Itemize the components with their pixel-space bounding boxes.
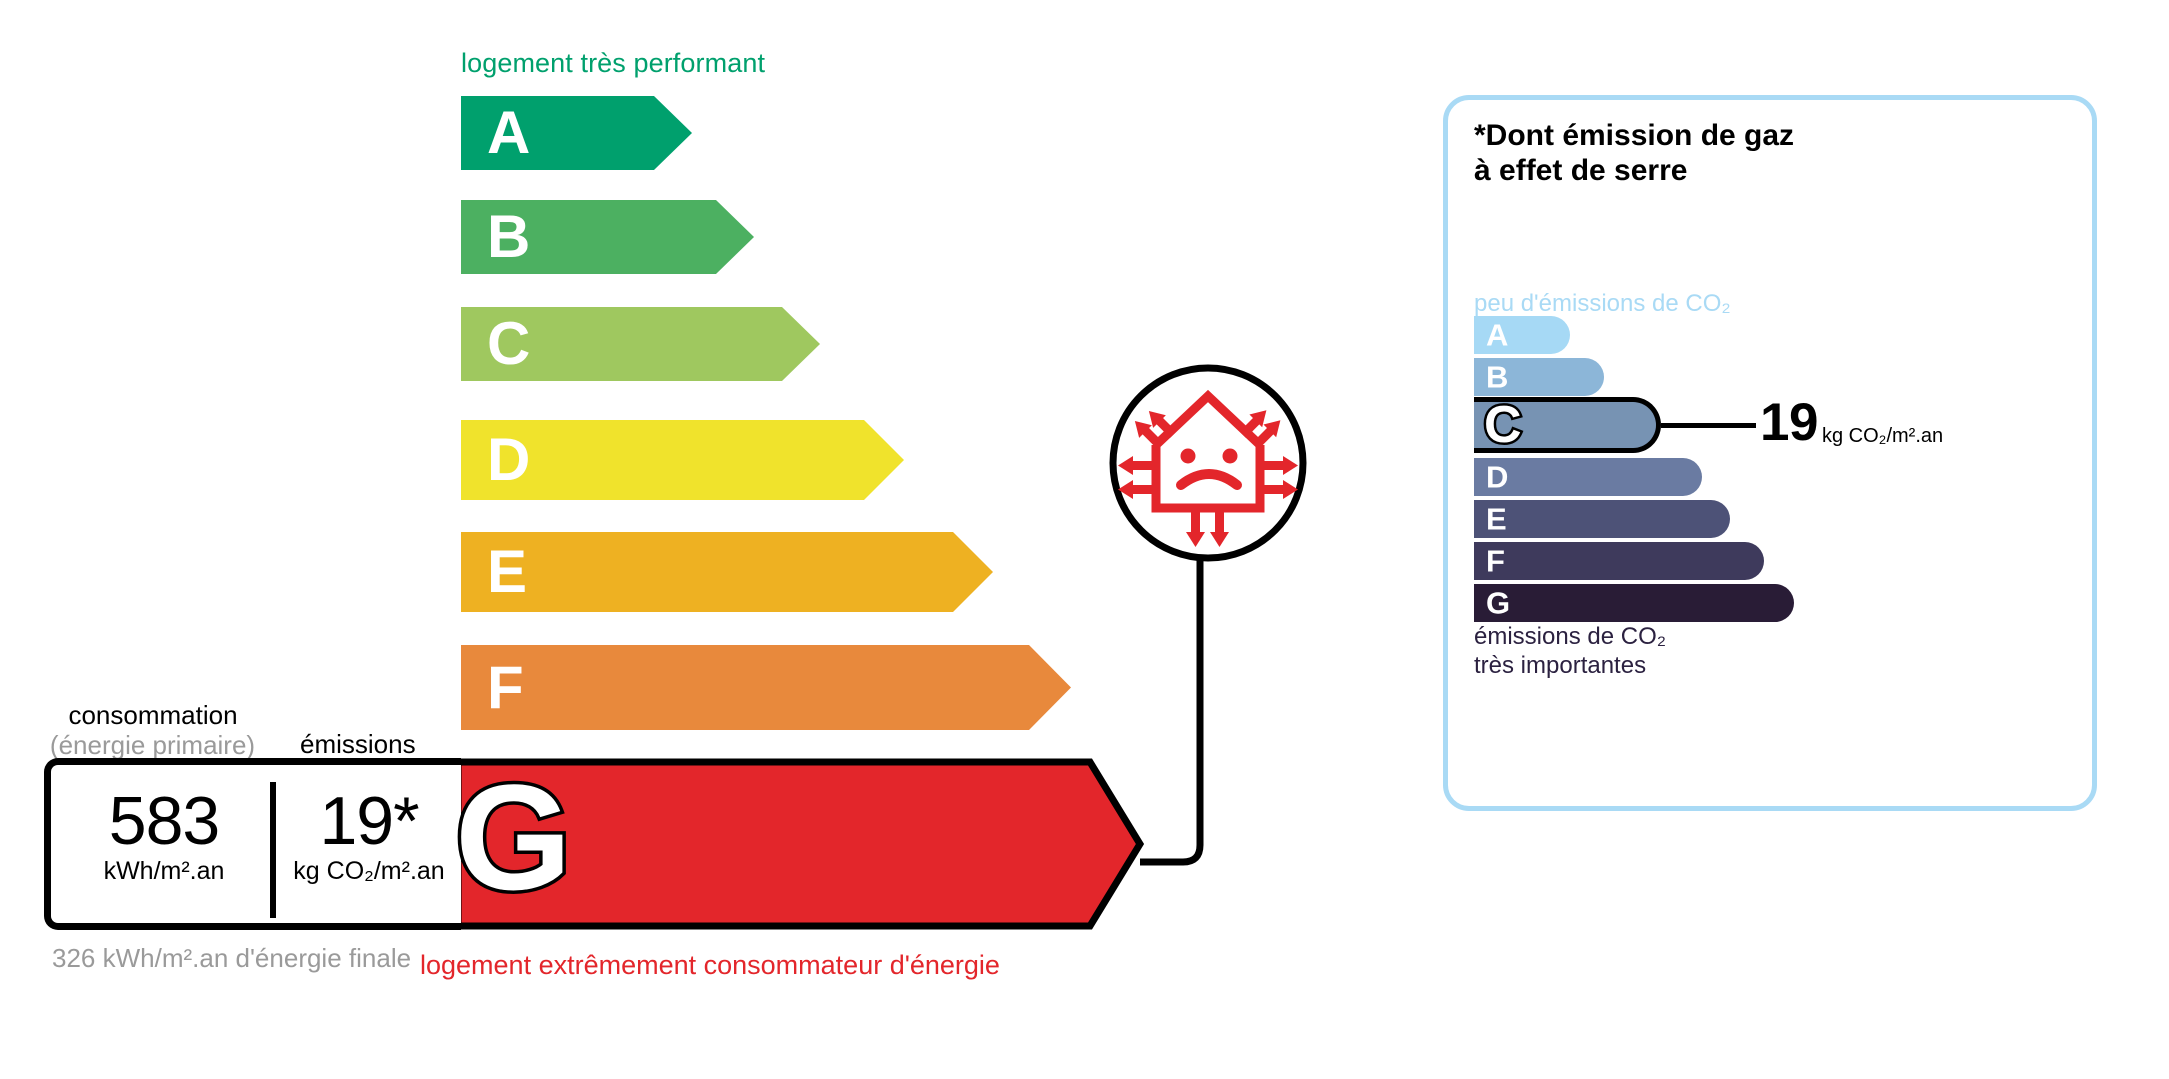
energy-class-row-e: E [461, 532, 993, 612]
ges-class-row-f: F [1474, 542, 1764, 580]
energy-class-letter-b: B [487, 207, 530, 267]
energy-performance-diagram: logement très performant A B C D E [0, 0, 1330, 1079]
ges-class-row-b: B [1474, 358, 1604, 396]
ges-bottom-caption: émissions de CO₂ très importantes [1474, 622, 1666, 681]
emissions-value: 19* [279, 787, 459, 856]
ges-callout-value: 19 [1760, 396, 1818, 449]
ges-class-row-a: A [1474, 316, 1570, 354]
energy-bottom-caption: logement extrêmement consommateur d'éner… [420, 950, 1000, 981]
ges-class-letter-a: A [1486, 320, 1508, 351]
emissions-unit: kg CO₂/m².an [279, 858, 459, 886]
ges-callout-leader-line [1661, 423, 1756, 428]
greenhouse-gas-panel: *Dont émission de gaz à effet de serre p… [1443, 95, 2097, 811]
value-divider [270, 782, 276, 918]
ges-class-letter-e: E [1486, 504, 1507, 535]
consumption-value: 583 [59, 787, 269, 856]
energy-class-row-f: F [461, 645, 1071, 730]
ges-class-letter-b: B [1486, 362, 1508, 393]
measurement-box: 583 kWh/m².an 19* kg CO₂/m².an [44, 758, 461, 930]
ges-callout-unit: kg CO₂/m².an [1822, 425, 1943, 448]
final-energy-footnote: 326 kWh/m².an d'énergie finale [52, 942, 411, 975]
energy-class-letter-a: A [487, 103, 530, 163]
ges-class-row-c: C [1474, 397, 1661, 453]
energy-class-row-g: 583 kWh/m².an 19* kg CO₂/m².an [44, 758, 1144, 930]
energy-class-row-a: A [461, 96, 692, 170]
energy-class-row-c: C [461, 307, 820, 381]
ges-class-row-e: E [1474, 500, 1730, 538]
energy-class-row-d: D [461, 420, 904, 500]
ges-class-letter-c: C [1484, 399, 1522, 451]
ges-class-letter-g: G [1486, 588, 1510, 619]
consumption-unit: kWh/m².an [59, 858, 269, 886]
consumption-label-secondary: (énergie primaire) [30, 730, 275, 761]
energy-arrow-f-shape [461, 645, 1071, 730]
ges-top-caption: peu d'émissions de CO₂ [1474, 290, 1731, 318]
sad-house-heatloss-icon [1108, 363, 1308, 563]
energy-arrow-e-shape [461, 532, 993, 612]
energy-top-caption: logement très performant [461, 48, 765, 79]
energy-class-letter-d: D [487, 430, 530, 490]
energy-class-letter-f: F [487, 658, 524, 718]
ges-panel-title: *Dont émission de gaz à effet de serre [1474, 118, 1794, 189]
emissions-label: émissions [300, 729, 416, 760]
energy-class-letter-c: C [487, 314, 530, 374]
consumption-label-primary: consommation [48, 700, 258, 731]
ges-class-row-g: G [1474, 584, 1794, 622]
energy-class-letter-e: E [487, 542, 527, 602]
emissions-value-cell: 19* kg CO₂/m².an [279, 787, 459, 915]
ges-class-row-d: D [1474, 458, 1702, 496]
energy-class-row-b: B [461, 200, 754, 274]
consumption-value-cell: 583 kWh/m².an [59, 787, 269, 915]
energy-class-letter-g: G [455, 762, 572, 912]
ges-class-letter-f: F [1486, 546, 1505, 577]
ges-class-letter-d: D [1486, 462, 1508, 493]
